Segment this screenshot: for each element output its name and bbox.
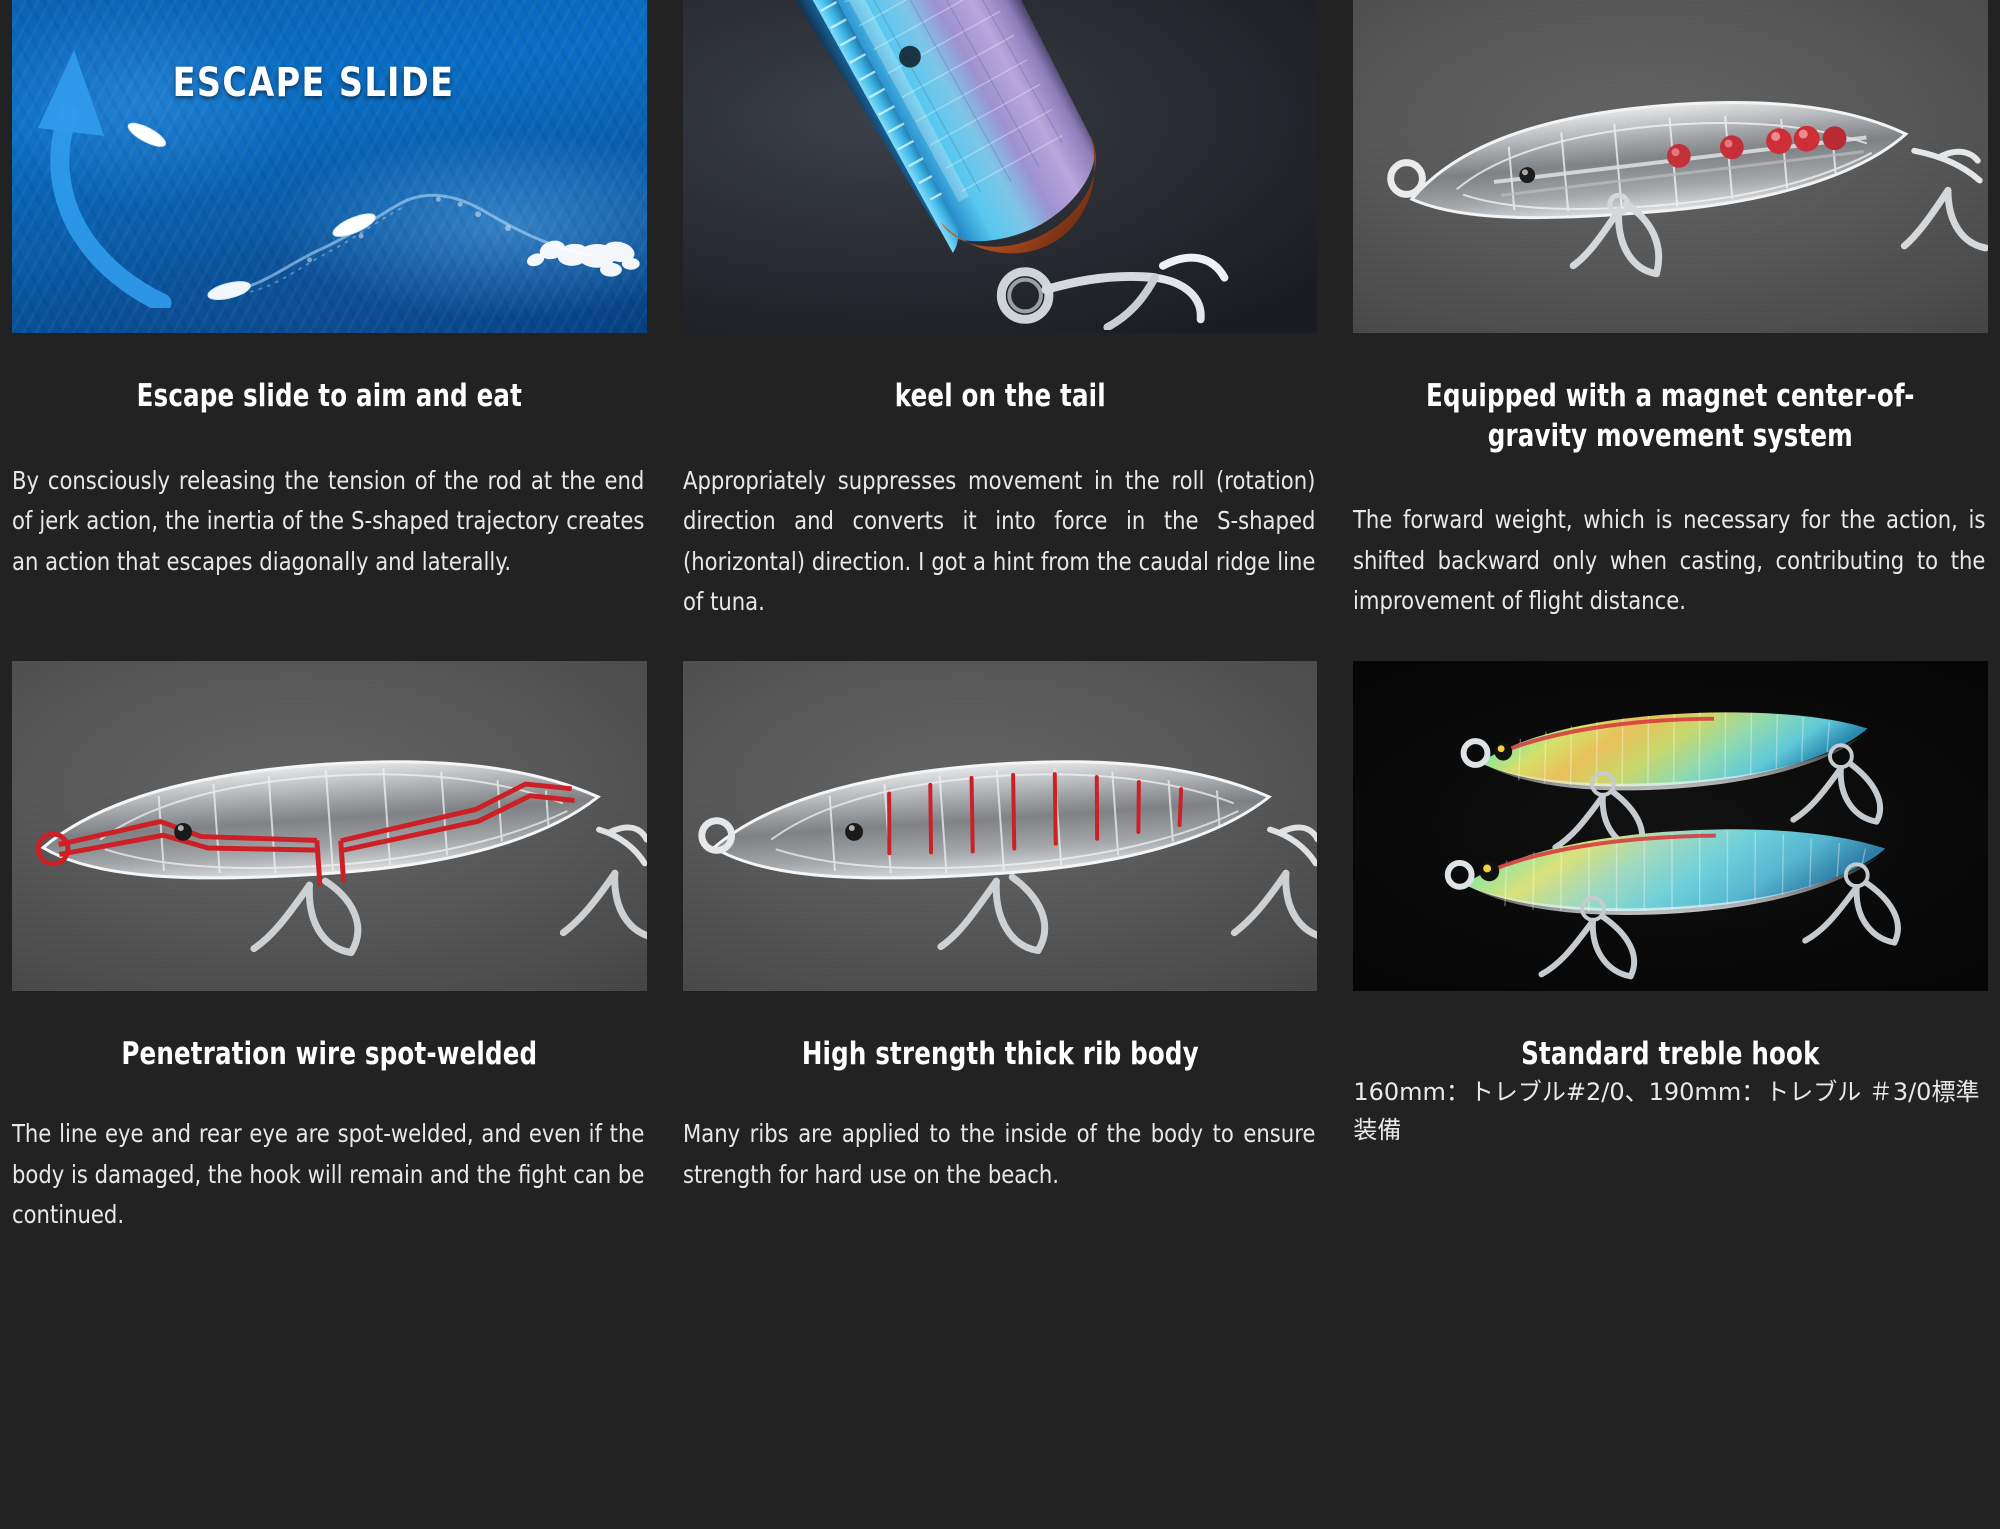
belly-treble-hook [254, 881, 358, 952]
keel-tail-closeup-photo [683, 0, 1318, 333]
feature-card-keel-on-tail: keel on the tail Appropriately suppresse… [683, 0, 1318, 623]
penetration-wire-photo [12, 661, 647, 991]
feature-heading-standard-treble-hook: Standard treble hook [1391, 1035, 1950, 1075]
thick-rib-lure-graphic [683, 661, 1318, 988]
feature-body-penetration-wire: The line eye and rear eye are spot-welde… [12, 1114, 644, 1236]
feature-body-thick-rib-body: Many ribs are applied to the inside of t… [683, 1114, 1315, 1195]
lure-tail-keel-graphic [683, 0, 1318, 330]
row-divider-spacer [12, 623, 1988, 661]
magnet-center-of-gravity-photo [1353, 0, 1988, 333]
rear-treble-hook [1234, 873, 1317, 936]
feature-body-magnet-cog: The forward weight, which is necessary f… [1353, 500, 1985, 622]
feature-heading-escape-slide: Escape slide to aim and eat [50, 377, 608, 417]
escape-slide-water-photo: ESCAPE SLIDE [12, 0, 647, 333]
two-finished-lures-graphic [1353, 661, 1988, 988]
standard-treble-hook-photo [1353, 661, 1988, 991]
lure-lower [1446, 820, 1888, 925]
feature-row-bottom: Penetration wire spot-welded The line ey… [12, 661, 1988, 1236]
feature-card-escape-slide: ESCAPE SLIDE Escape slide to aim and eat… [12, 0, 647, 623]
feature-body-standard-treble-hook: 160mm：トレブル#2/0、190mm：トレブル ＃3/0標準装備 [1353, 1074, 1988, 1150]
feature-body-escape-slide: By consciously releasing the tension of … [12, 461, 644, 583]
feature-body-keel-on-tail: Appropriately suppresses movement in the… [683, 461, 1315, 623]
through-wire-lure-graphic [12, 661, 647, 988]
feature-card-thick-rib-body: High strength thick rib body Many ribs a… [683, 661, 1318, 1236]
lure-upper [1462, 703, 1870, 799]
thick-rib-body-photo [683, 661, 1318, 991]
transparent-lure-magnet-graphic [1353, 0, 1988, 330]
escape-slide-overlay-label: ESCAPE SLIDE [173, 60, 455, 106]
feature-heading-keel-on-tail: keel on the tail [721, 377, 1280, 417]
rear-treble-hook [1905, 190, 1986, 248]
feature-heading-thick-rib-body: High strength thick rib body [721, 1035, 1280, 1075]
feature-grid-page: ESCAPE SLIDE Escape slide to aim and eat… [0, 0, 2000, 1529]
feature-heading-magnet-cog: Equipped with a magnet center-of-gravity… [1391, 377, 1950, 456]
feature-card-penetration-wire: Penetration wire spot-welded The line ey… [12, 661, 647, 1236]
feature-card-magnet-cog: Equipped with a magnet center-of-gravity… [1353, 0, 1988, 623]
feature-heading-penetration-wire: Penetration wire spot-welded [50, 1035, 608, 1075]
line-eye [1391, 163, 1423, 195]
feature-row-top: ESCAPE SLIDE Escape slide to aim and eat… [12, 0, 1988, 623]
feature-card-standard-treble-hook: Standard treble hook 160mm：トレブル#2/0、190m… [1353, 661, 1988, 1236]
rear-treble-hook [563, 873, 646, 936]
split-ring-and-treble-hook [1001, 258, 1224, 328]
belly-treble-hook [940, 877, 1044, 950]
